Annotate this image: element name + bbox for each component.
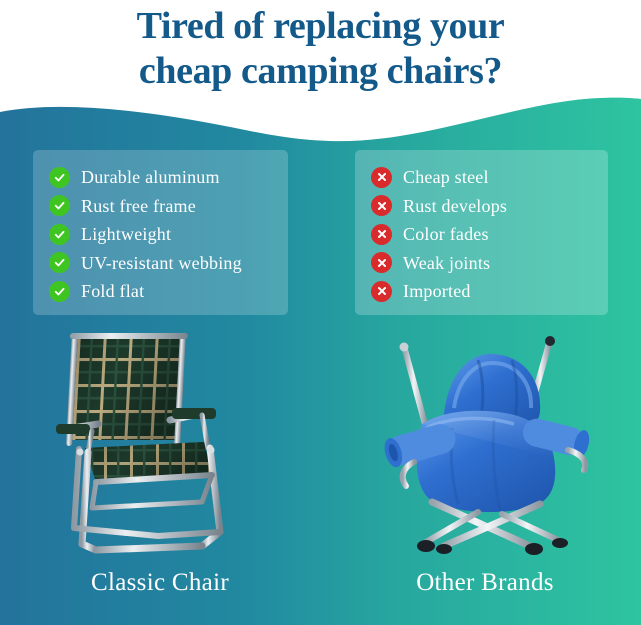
headline-line-1: Tired of replacing your [0, 4, 641, 49]
cross-circle-icon [371, 167, 392, 188]
check-circle-icon [49, 224, 70, 245]
page-title: Tired of replacing your cheap camping ch… [0, 4, 641, 94]
check-circle-icon [49, 281, 70, 302]
pros-item-label: UV-resistant webbing [81, 252, 242, 274]
pros-item-label: Lightweight [81, 223, 171, 245]
cons-item-label: Color fades [403, 223, 489, 245]
classic-chair-caption: Classic Chair [20, 568, 300, 598]
list-item: Durable aluminum [49, 163, 274, 191]
list-item: Imported [371, 277, 594, 305]
pros-list: Durable aluminum Rust free frame Lightwe… [49, 163, 274, 305]
list-item: Weak joints [371, 249, 594, 277]
comparison-infographic: Tired of replacing your cheap camping ch… [0, 0, 641, 625]
pros-item-label: Rust free frame [81, 195, 196, 217]
list-item: UV-resistant webbing [49, 249, 274, 277]
cross-circle-icon [371, 252, 392, 273]
cons-panel: Cheap steel Rust develops Color fades We… [355, 150, 608, 315]
cons-item-label: Weak joints [403, 252, 490, 274]
other-brands-caption: Other Brands [345, 568, 625, 598]
cross-circle-icon [371, 224, 392, 245]
cons-item-label: Cheap steel [403, 166, 489, 188]
cons-item-label: Rust develops [403, 195, 507, 217]
list-item: Fold flat [49, 277, 274, 305]
pros-panel: Durable aluminum Rust free frame Lightwe… [33, 150, 288, 315]
classic-chair-image [52, 332, 267, 560]
check-circle-icon [49, 252, 70, 273]
cross-circle-icon [371, 281, 392, 302]
pros-item-label: Durable aluminum [81, 166, 220, 188]
list-item: Cheap steel [371, 163, 594, 191]
check-circle-icon [49, 167, 70, 188]
cross-circle-icon [371, 195, 392, 216]
cons-item-label: Imported [403, 280, 471, 302]
check-circle-icon [49, 195, 70, 216]
list-item: Color fades [371, 220, 594, 248]
other-brand-chair-image [382, 332, 604, 560]
list-item: Rust free frame [49, 192, 274, 220]
list-item: Rust develops [371, 192, 594, 220]
headline-line-2: cheap camping chairs? [0, 49, 641, 94]
list-item: Lightweight [49, 220, 274, 248]
pros-item-label: Fold flat [81, 280, 144, 302]
cons-list: Cheap steel Rust develops Color fades We… [371, 163, 594, 305]
